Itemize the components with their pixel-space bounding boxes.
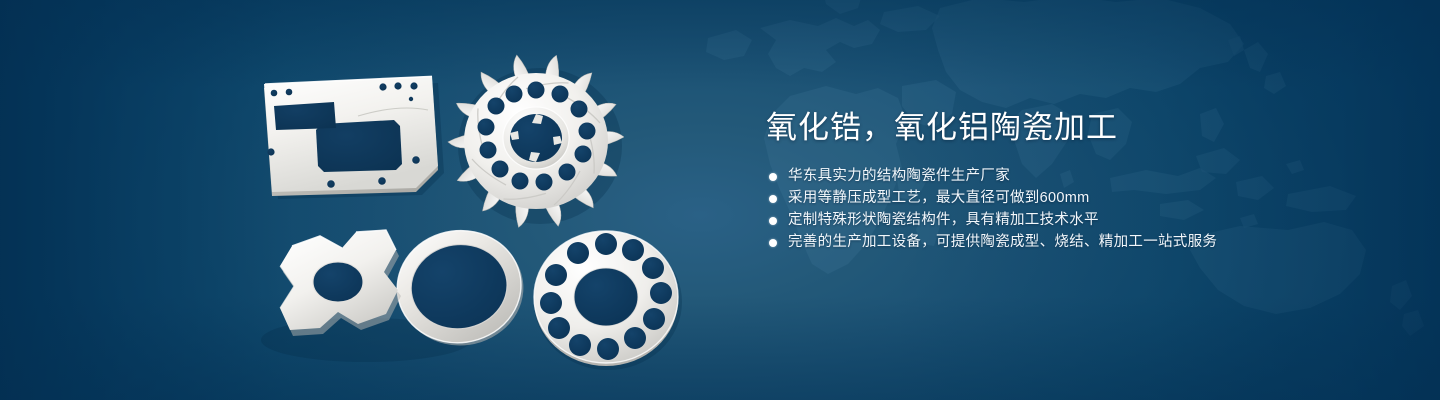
ceramic-impeller-disc-photo xyxy=(442,46,632,236)
feature-bullet-4-text: 完善的生产加工设备，可提供陶瓷成型、烧结、精加工一站式服务 xyxy=(788,232,1217,253)
filled-circle-bullet-icon xyxy=(769,239,777,247)
filled-circle-bullet-icon xyxy=(769,173,777,181)
ceramic-machined-plate-photo xyxy=(248,72,448,202)
feature-bullet-2: 采用等静压成型工艺，最大直径可做到600mm xyxy=(766,188,1386,209)
ceramic-cross-part-and-ring-photo xyxy=(246,222,526,367)
feature-bullet-1: 华东具实力的结构陶瓷件生产厂家 xyxy=(766,166,1386,187)
feature-bullet-3: 定制特殊形状陶瓷结构件，具有精加工技术水平 xyxy=(766,210,1386,231)
banner-headline: 氧化锆，氧化铝陶瓷加工 xyxy=(766,108,1386,148)
feature-bullet-4: 完善的生产加工设备，可提供陶瓷成型、烧结、精加工一站式服务 xyxy=(766,232,1386,253)
feature-bullet-3-text: 定制特殊形状陶瓷结构件，具有精加工技术水平 xyxy=(788,210,1099,231)
feature-bullet-1-text: 华东具实力的结构陶瓷件生产厂家 xyxy=(788,166,1010,187)
feature-bullet-2-text: 采用等静压成型工艺，最大直径可做到600mm xyxy=(788,188,1089,209)
promo-banner: 氧化锆，氧化铝陶瓷加工 华东具实力的结构陶瓷件生产厂家 采用等静压成型工艺，最大… xyxy=(0,0,1440,400)
filled-circle-bullet-icon xyxy=(769,217,777,225)
banner-text-block: 氧化锆，氧化铝陶瓷加工 华东具实力的结构陶瓷件生产厂家 采用等静压成型工艺，最大… xyxy=(766,108,1386,254)
filled-circle-bullet-icon xyxy=(769,195,777,203)
ceramic-perforated-ring-photo xyxy=(518,218,698,378)
feature-bullet-list: 华东具实力的结构陶瓷件生产厂家 采用等静压成型工艺，最大直径可做到600mm 定… xyxy=(766,166,1386,253)
